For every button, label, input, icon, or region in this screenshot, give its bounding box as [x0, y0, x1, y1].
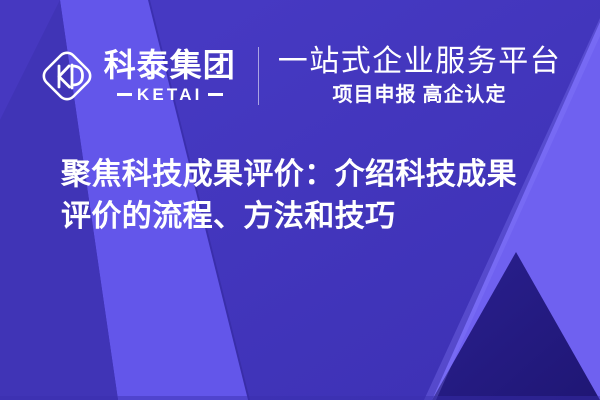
promo-banner: 科泰集团 KETAI 一站式企业服务平台 项目申报 高企认定 聚焦科技成果评价：…: [0, 0, 600, 400]
company-name-en-row: KETAI: [117, 86, 223, 103]
company-name-en: KETAI: [137, 86, 203, 103]
headline-line-1: 聚焦科技成果评价：介绍科技成果: [61, 154, 561, 196]
dash-left-icon: [117, 93, 132, 96]
company-name-cn: 科泰集团: [104, 49, 236, 81]
dash-right-icon: [208, 93, 223, 96]
logo-wordmark: 科泰集团 KETAI: [104, 49, 236, 103]
headline: 聚焦科技成果评价：介绍科技成果 评价的流程、方法和技巧: [61, 154, 561, 238]
header-divider: [258, 47, 259, 105]
brand-logo[interactable]: 科泰集团 KETAI: [39, 48, 236, 104]
tagline-sub: 项目申报 高企认定: [278, 84, 562, 107]
ketai-diamond-logo-icon: [39, 48, 95, 104]
tagline-block: 一站式企业服务平台 项目申报 高企认定: [278, 45, 562, 107]
tagline-main: 一站式企业服务平台: [278, 45, 562, 79]
banner-header: 科泰集团 KETAI 一站式企业服务平台 项目申报 高企认定: [0, 34, 600, 118]
headline-line-2: 评价的流程、方法和技巧: [61, 196, 561, 238]
